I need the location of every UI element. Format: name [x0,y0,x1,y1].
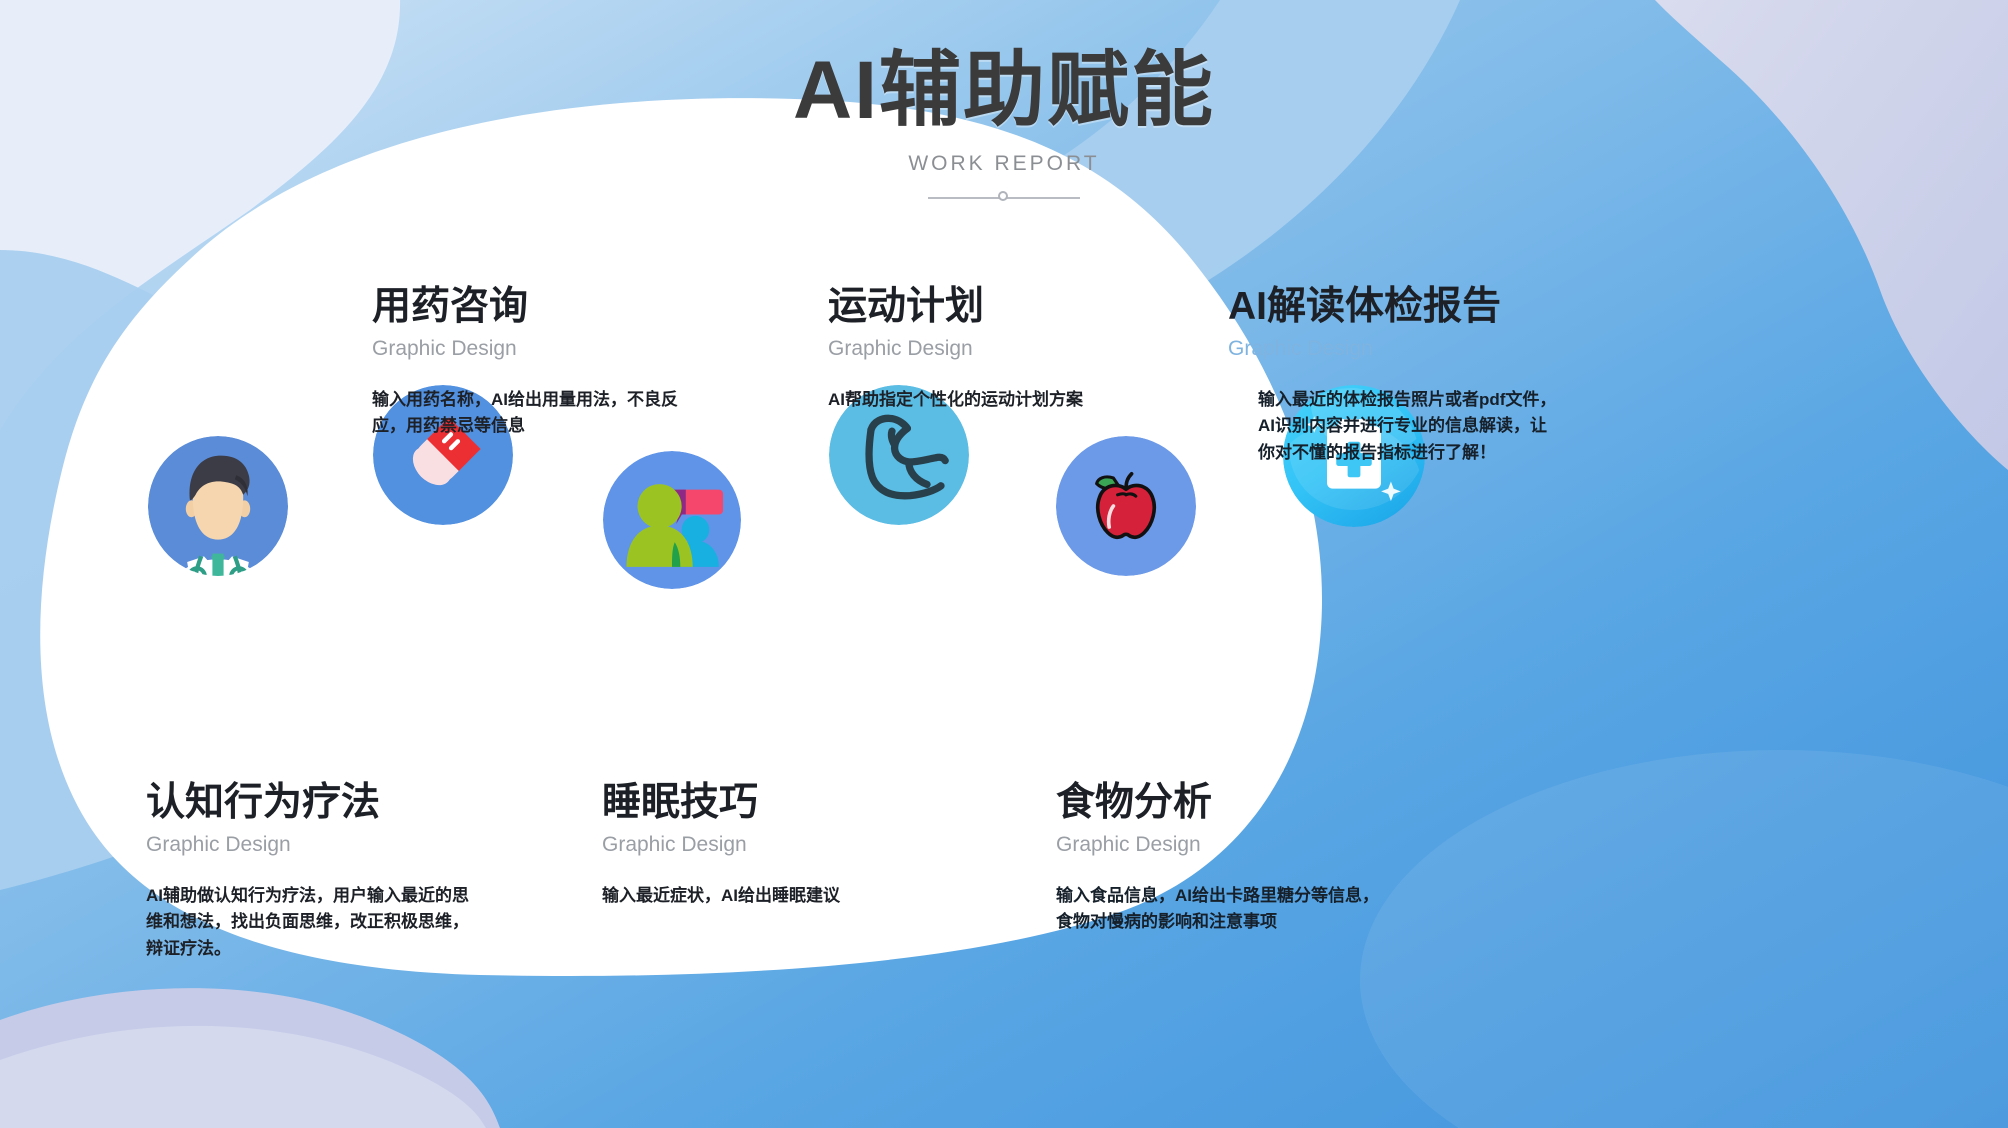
feature-description: 输入用药名称，AI给出用量用法，不良反应，用药禁忌等信息 [372,387,702,440]
blob-bottomleft [0,988,500,1128]
people-chat-icon [603,451,741,589]
feature-title: AI解读体检报告 [1228,286,1558,329]
feature-title: 运动计划 [828,286,1158,329]
page-title: AI辅助赋能 [0,48,2008,134]
feature-subtitle: Graphic Design [602,832,932,857]
doctor-icon [148,436,288,576]
feature-title: 用药咨询 [372,286,702,329]
divider-dot-icon [998,191,1008,201]
slide-canvas: AI辅助赋能 WORK REPORT [0,0,2008,1128]
feature-cbt[interactable]: 认知行为疗法 Graphic Design AI辅助做认知行为疗法，用户输入最近… [146,782,476,962]
feature-title: 认知行为疗法 [146,782,476,825]
feature-description: 输入最近的体检报告照片或者pdf文件，AI识别内容并进行专业的信息解读，让你对不… [1258,387,1558,466]
feature-food[interactable]: 食物分析 Graphic Design 输入食品信息，AI给出卡路里糖分等信息，… [1056,782,1386,936]
feature-subtitle: Graphic Design [372,336,702,361]
feature-exercise[interactable]: 运动计划 Graphic Design AI帮助指定个性化的运动计划方案 [828,286,1158,413]
feature-description: AI帮助指定个性化的运动计划方案 [828,387,1158,413]
apple-icon [1056,436,1196,576]
feature-description: 输入食品信息，AI给出卡路里糖分等信息，食物对慢病的影响和注意事项 [1056,883,1386,936]
feature-report[interactable]: AI解读体检报告 Graphic Design 输入最近的体检报告照片或者pdf… [1228,286,1558,466]
feature-medication[interactable]: 用药咨询 Graphic Design 输入用药名称，AI给出用量用法，不良反应… [372,286,702,440]
feature-title: 睡眠技巧 [602,782,932,825]
blob-glow [1360,750,2008,1128]
feature-subtitle: Graphic Design [828,336,1158,361]
blob-bottomleft-soft [0,1026,486,1128]
feature-subtitle: Graphic Design [1228,336,1558,361]
header-divider [928,188,1080,206]
slide-header: AI辅助赋能 WORK REPORT [0,48,2008,206]
feature-subtitle: Graphic Design [146,832,476,857]
page-subtitle: WORK REPORT [0,152,2008,176]
feature-description: 输入最近症状，AI给出睡眠建议 [602,883,932,909]
feature-sleep[interactable]: 睡眠技巧 Graphic Design 输入最近症状，AI给出睡眠建议 [602,782,932,909]
feature-title: 食物分析 [1056,782,1386,825]
feature-subtitle: Graphic Design [1056,832,1386,857]
feature-description: AI辅助做认知行为疗法，用户输入最近的思维和想法，找出负面思维，改正积极思维，辩… [146,883,476,962]
